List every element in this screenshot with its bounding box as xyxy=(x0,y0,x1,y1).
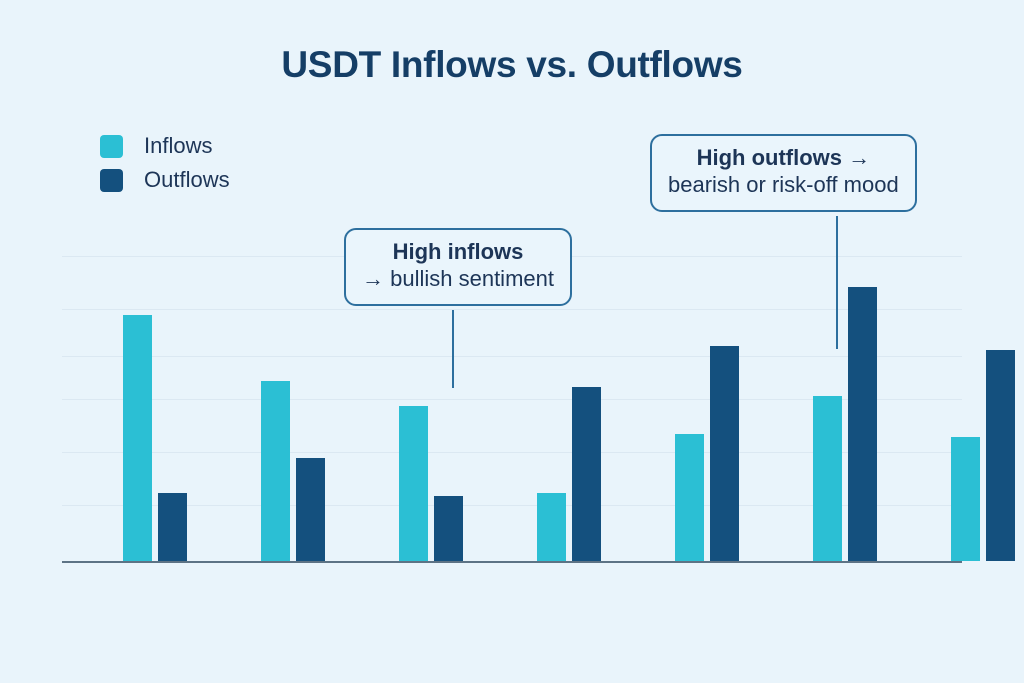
bar-group-6-outflow xyxy=(848,287,877,561)
chart-legend: Inflows Outflows xyxy=(100,129,230,197)
chart-canvas: USDT Inflows vs. Outflows Inflows Outflo… xyxy=(0,0,1024,683)
annotation-high-outflows: High outflows → bearish or risk-off mood xyxy=(650,134,917,212)
legend-label-inflows: Inflows xyxy=(144,133,212,159)
annotation-line1: High outflows → xyxy=(668,145,899,172)
bar-group-7-inflow xyxy=(951,437,980,561)
bar-group-2-outflow xyxy=(296,458,325,561)
bar-group-3-inflow xyxy=(399,406,428,562)
legend-label-outflows: Outflows xyxy=(144,167,230,193)
x-axis-line xyxy=(62,561,962,563)
inflow-swatch-icon xyxy=(100,135,123,158)
annotation-line1: High inflows xyxy=(362,239,554,266)
annotation-connector-inflows xyxy=(452,310,454,388)
annotation-line2: bearish or risk-off mood xyxy=(668,172,899,199)
bar-group-4-inflow xyxy=(537,493,566,561)
bar-group-3-outflow xyxy=(434,496,463,561)
annotation-high-inflows: High inflows → bullish sentiment xyxy=(344,228,572,306)
legend-item-inflows: Inflows xyxy=(100,129,230,163)
bar-group-5-outflow xyxy=(710,346,739,561)
bar-group-5-inflow xyxy=(675,434,704,562)
bar-group-6-inflow xyxy=(813,396,842,561)
bar-group-1-outflow xyxy=(158,493,187,561)
outflow-swatch-icon xyxy=(100,169,123,192)
annotation-line2: → bullish sentiment xyxy=(362,266,554,293)
bar-group-2-inflow xyxy=(261,381,290,561)
page-title: USDT Inflows vs. Outflows xyxy=(0,44,1024,86)
bar-group-1-inflow xyxy=(123,315,152,561)
legend-item-outflows: Outflows xyxy=(100,163,230,197)
bar-group-7-outflow xyxy=(986,350,1015,561)
bar-group-4-outflow xyxy=(572,387,601,561)
annotation-connector-outflows xyxy=(836,216,838,349)
